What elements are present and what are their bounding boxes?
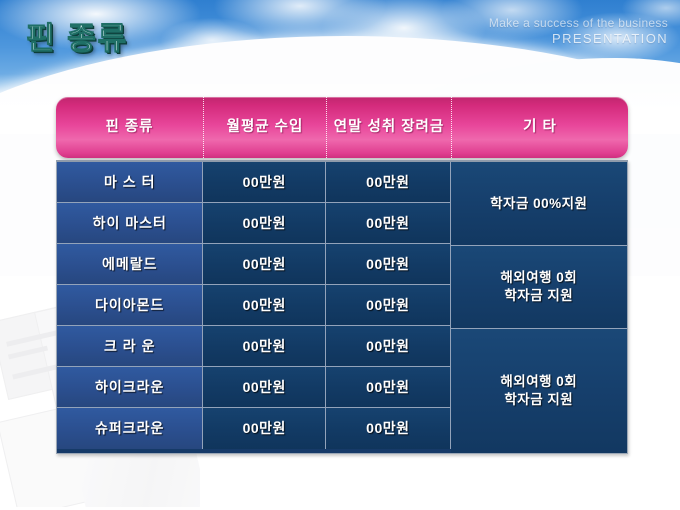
column-etc: 학자금 00%지원 해외여행 0회 학자금 지원 해외여행 0회 학자금 지원 xyxy=(451,162,627,453)
table-row: 하이크라운 xyxy=(57,367,203,408)
table-cell-bonus: 00만원 xyxy=(326,203,451,244)
table-row: 크 라 운 xyxy=(57,326,203,367)
table-cell-income: 00만원 xyxy=(203,162,326,203)
table-cell-bonus: 00만원 xyxy=(326,162,451,203)
table-cell-bonus: 00만원 xyxy=(326,326,451,367)
table-header-row: 핀 종류 월평균 수입 연말 성취 장려금 기 타 xyxy=(56,97,628,158)
table-cell-etc-merged: 학자금 00%지원 xyxy=(451,162,627,246)
table-row: 하이 마스터 xyxy=(57,203,203,244)
column-monthly-income: 00만원 00만원 00만원 00만원 00만원 00만원 00만원 xyxy=(203,162,326,453)
table-row: 에메랄드 xyxy=(57,244,203,285)
table-cell-bonus: 00만원 xyxy=(326,244,451,285)
table-row: 슈퍼크라운 xyxy=(57,408,203,449)
slide-title: 핀 종류 xyxy=(26,13,128,58)
column-pin-type: 마 스 터 하이 마스터 에메랄드 다이아몬드 크 라 운 하이크라운 슈퍼크라… xyxy=(57,162,203,453)
table-cell-etc-merged: 해외여행 0회 학자금 지원 xyxy=(451,329,627,453)
column-header-etc: 기 타 xyxy=(451,97,628,158)
table-cell-bonus: 00만원 xyxy=(326,408,451,449)
table-cell-bonus: 00만원 xyxy=(326,285,451,326)
table-row: 마 스 터 xyxy=(57,162,203,203)
table-cell-income: 00만원 xyxy=(203,367,326,408)
table-cell-bonus: 00만원 xyxy=(326,367,451,408)
table-row: 다이아몬드 xyxy=(57,285,203,326)
table-cell-etc-merged: 해외여행 0회 학자금 지원 xyxy=(451,246,627,329)
table-cell-income: 00만원 xyxy=(203,408,326,449)
column-year-end-bonus: 00만원 00만원 00만원 00만원 00만원 00만원 00만원 xyxy=(326,162,451,453)
table-cell-income: 00만원 xyxy=(203,285,326,326)
column-header-year-end-bonus: 연말 성취 장려금 xyxy=(326,97,451,158)
column-header-monthly-income: 월평균 수입 xyxy=(203,97,326,158)
table-cell-income: 00만원 xyxy=(203,203,326,244)
column-header-pin-type: 핀 종류 xyxy=(56,97,203,158)
pin-grade-table: 핀 종류 월평균 수입 연말 성취 장려금 기 타 마 스 터 하이 마스터 에… xyxy=(56,97,628,454)
table-body: 마 스 터 하이 마스터 에메랄드 다이아몬드 크 라 운 하이크라운 슈퍼크라… xyxy=(56,160,628,454)
table-cell-income: 00만원 xyxy=(203,326,326,367)
table-cell-income: 00만원 xyxy=(203,244,326,285)
slide-canvas: 핀 종류 Make a success of the business PRES… xyxy=(0,0,680,510)
